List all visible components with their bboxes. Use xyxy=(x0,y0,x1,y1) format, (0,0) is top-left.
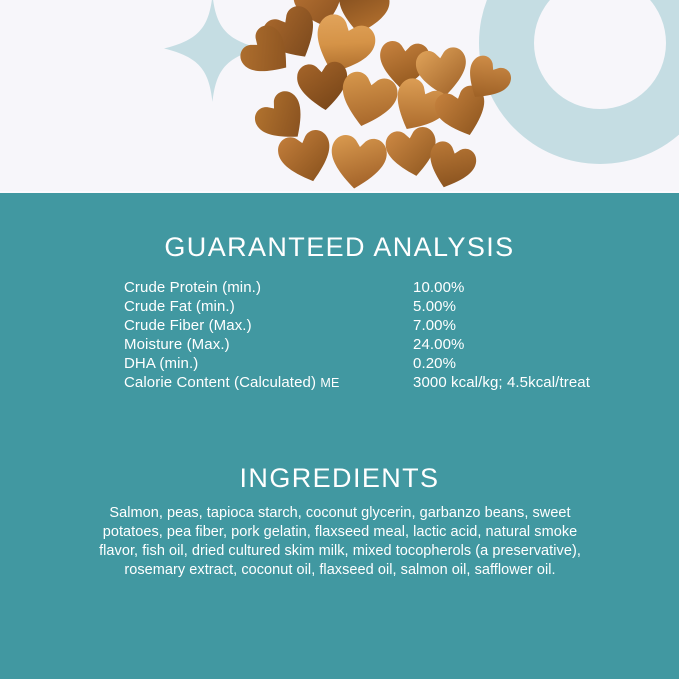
analysis-label: Crude Fat (min.) xyxy=(124,298,413,315)
product-label-page: GUARANTEED ANALYSIS Crude Protein (min.)… xyxy=(0,0,679,679)
table-row: Crude Protein (min.) 10.00% xyxy=(124,279,654,298)
analysis-value: 7.00% xyxy=(413,317,456,334)
treat-cluster xyxy=(0,0,679,193)
table-row: Crude Fiber (Max.) 7.00% xyxy=(124,317,654,336)
analysis-label: DHA (min.) xyxy=(124,355,413,372)
analysis-value: 24.00% xyxy=(413,336,464,353)
guaranteed-analysis-table: Crude Protein (min.) 10.00% Crude Fat (m… xyxy=(124,279,654,393)
analysis-value: 3000 kcal/kg; 4.5kcal/treat xyxy=(413,374,590,391)
analysis-label-suffix: ME xyxy=(320,376,339,390)
analysis-value: 5.00% xyxy=(413,298,456,315)
analysis-label: Moisture (Max.) xyxy=(124,336,413,353)
analysis-label: Crude Protein (min.) xyxy=(124,279,413,296)
table-row: Crude Fat (min.) 5.00% xyxy=(124,298,654,317)
ingredients-heading: INGREDIENTS xyxy=(0,463,679,494)
product-hero-image xyxy=(0,0,679,193)
analysis-value: 10.00% xyxy=(413,279,464,296)
analysis-label-text: Calorie Content (Calculated) xyxy=(124,374,316,391)
analysis-value: 0.20% xyxy=(413,355,456,372)
analysis-label: Crude Fiber (Max.) xyxy=(124,317,413,334)
analysis-label: Calorie Content (Calculated) ME xyxy=(124,374,413,391)
table-row: Calorie Content (Calculated) ME 3000 kca… xyxy=(124,374,654,393)
guaranteed-analysis-heading: GUARANTEED ANALYSIS xyxy=(0,232,679,263)
ingredients-text: Salmon, peas, tapioca starch, coconut gl… xyxy=(84,504,596,580)
table-row: DHA (min.) 0.20% xyxy=(124,355,654,374)
nutrition-panel: GUARANTEED ANALYSIS Crude Protein (min.)… xyxy=(0,193,679,679)
table-row: Moisture (Max.) 24.00% xyxy=(124,336,654,355)
